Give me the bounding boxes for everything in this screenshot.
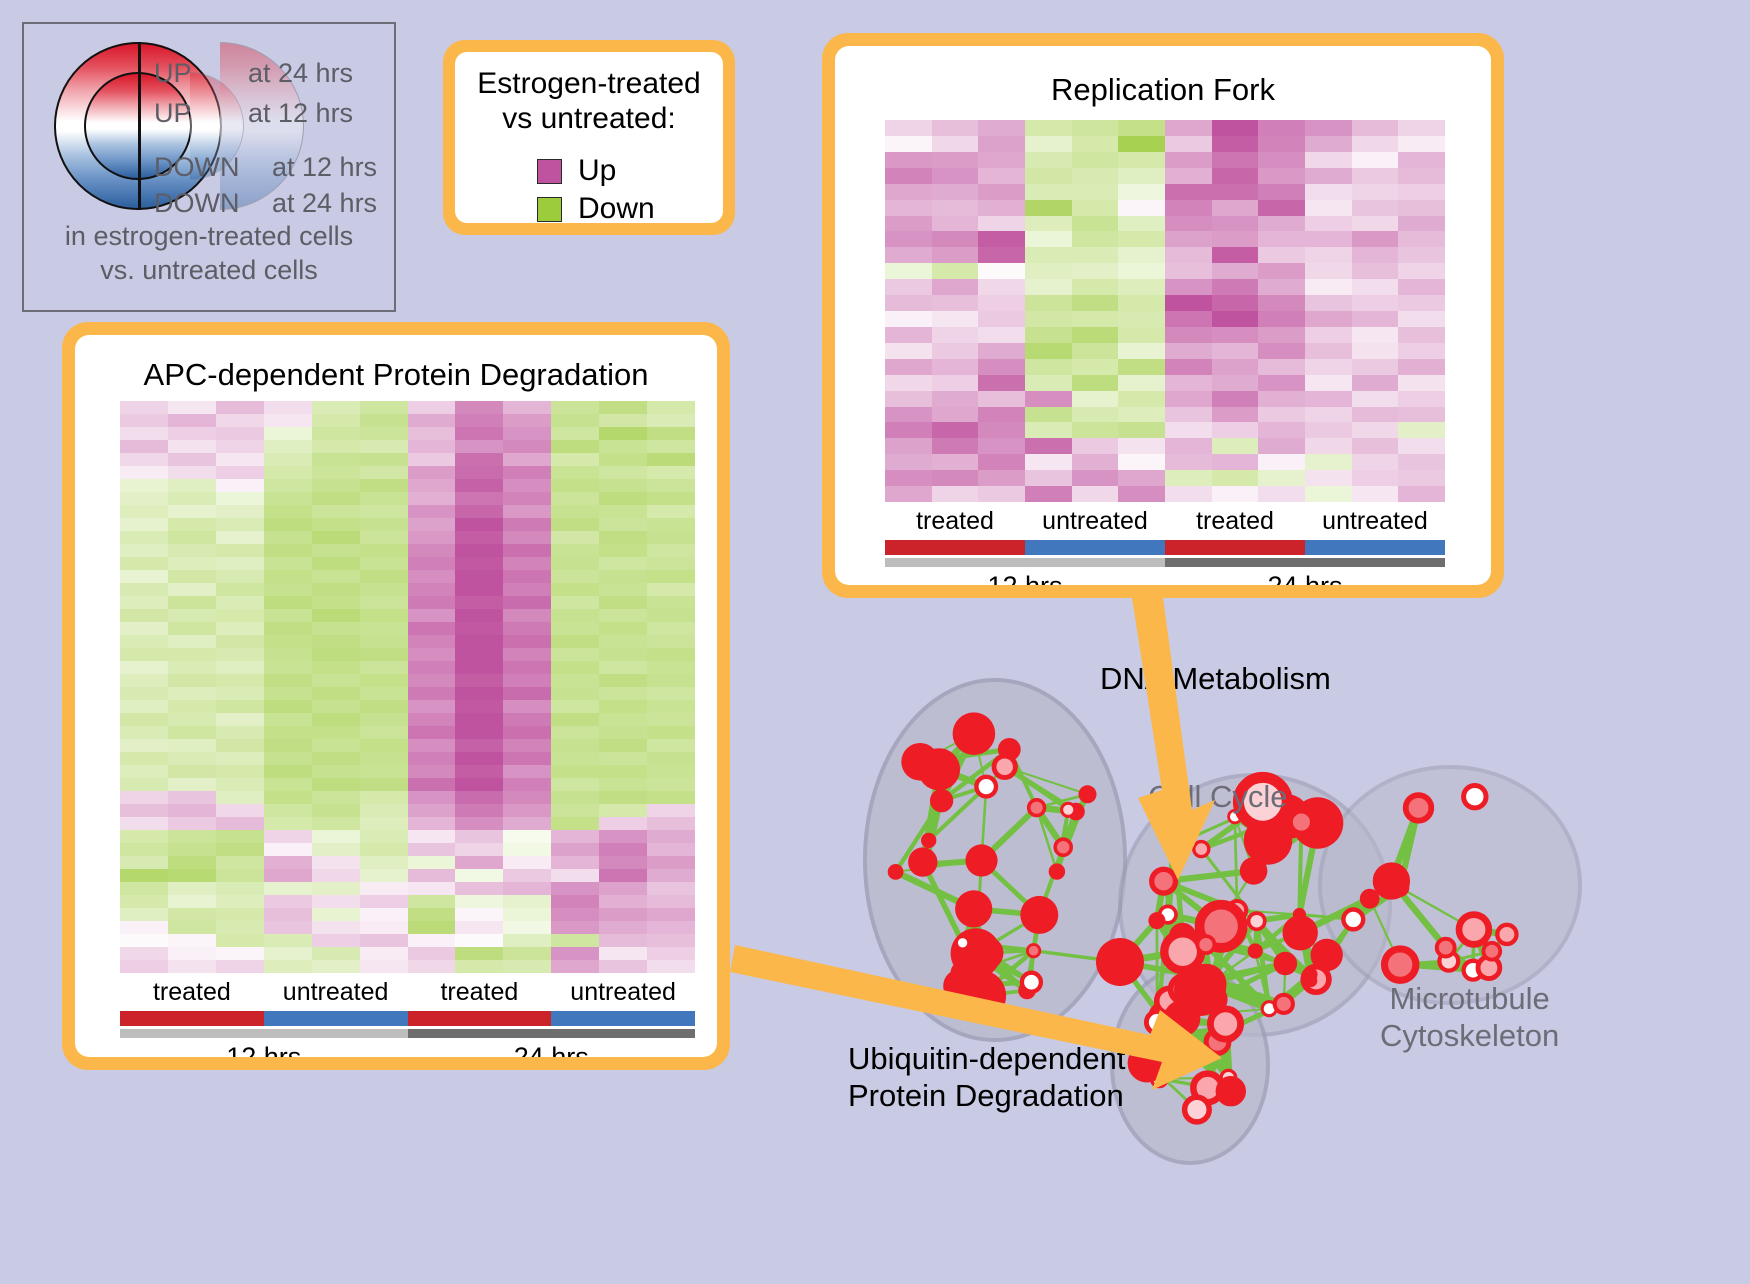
heatmap-cell [1212, 231, 1259, 247]
heatmap-cell [551, 531, 599, 544]
cluster-label-microtubule-cytoskeleton: Microtubule Cytoskeleton [1380, 980, 1559, 1054]
heatmap-cell [647, 414, 695, 427]
heatmap-cell [168, 700, 216, 713]
heatmap-cell [1398, 343, 1445, 359]
heatmap-cell [885, 231, 932, 247]
heatmap-cell [312, 557, 360, 570]
heatmap-cell [647, 739, 695, 752]
heatmap-cell [1305, 279, 1352, 295]
heatmap-cell [168, 531, 216, 544]
heatmap-cell [599, 960, 647, 973]
apc-heatmap [120, 401, 695, 973]
heatmap-cell [551, 687, 599, 700]
heatmap-cell [1398, 375, 1445, 391]
heatmap-cell [1212, 470, 1259, 486]
heatmap-cell [408, 843, 456, 856]
heatmap-cell [455, 518, 503, 531]
time-group-label: 24 hrs [1165, 573, 1445, 585]
heatmap-cell [264, 934, 312, 947]
heatmap-cell [120, 778, 168, 791]
heatmap-cell [120, 674, 168, 687]
heatmap-cell [408, 661, 456, 674]
heatmap-cell [120, 661, 168, 674]
heatmap-cell [932, 231, 979, 247]
heatmap-cell [1352, 311, 1399, 327]
key-row-down: Down [537, 194, 655, 224]
heatmap-cell [599, 804, 647, 817]
heatmap-cell [647, 778, 695, 791]
heatmap-cell [264, 700, 312, 713]
heatmap-cell [408, 427, 456, 440]
heatmap-cell [1072, 120, 1119, 136]
heatmap-cell [408, 622, 456, 635]
heatmap-cell [264, 752, 312, 765]
heatmap-cell [312, 700, 360, 713]
heatmap-cell [503, 635, 551, 648]
heatmap-cell [551, 414, 599, 427]
heatmap-cell [885, 311, 932, 327]
heatmap-cell [978, 422, 1025, 438]
network-svg [790, 610, 1750, 1279]
heatmap-cell [168, 466, 216, 479]
heatmap-cell [264, 635, 312, 648]
heatmap-cell [1258, 168, 1305, 184]
heatmap-cell [455, 895, 503, 908]
heatmap-cell [360, 947, 408, 960]
heatmap-cell [503, 492, 551, 505]
heatmap-cell [312, 635, 360, 648]
heatmap-cell [978, 438, 1025, 454]
heatmap-cell [647, 440, 695, 453]
heatmap-cell [1025, 136, 1072, 152]
heatmap-cell [503, 830, 551, 843]
heatmap-cell [978, 470, 1025, 486]
heatmap-cell [120, 466, 168, 479]
heatmap-cell [503, 908, 551, 921]
heatmap-cell [168, 804, 216, 817]
treatment-bar-segment [264, 1011, 408, 1026]
heatmap-cell [264, 557, 312, 570]
heatmap-cell [1025, 407, 1072, 423]
heatmap-cell [1352, 375, 1399, 391]
network-node [1062, 803, 1075, 816]
heatmap-cell [551, 635, 599, 648]
heatmap-cell [120, 791, 168, 804]
heatmap-cell [120, 648, 168, 661]
heatmap-cell [408, 401, 456, 414]
heatmap-cell [1118, 263, 1165, 279]
heatmap-cell [551, 622, 599, 635]
heatmap-cell [1025, 391, 1072, 407]
heatmap-cell [1352, 136, 1399, 152]
heatmap-cell [978, 263, 1025, 279]
heatmap-cell [216, 661, 264, 674]
heatmap-cell [216, 752, 264, 765]
heatmap-cell [264, 661, 312, 674]
heatmap-cell [408, 466, 456, 479]
heatmap-cell [503, 726, 551, 739]
heatmap-cell [1258, 152, 1305, 168]
heatmap-cell [551, 440, 599, 453]
network-node [1079, 785, 1097, 803]
heatmap-cell [503, 440, 551, 453]
heatmap-cell [1118, 247, 1165, 263]
heatmap-cell [599, 414, 647, 427]
heatmap-cell [264, 479, 312, 492]
heatmap-cell [312, 596, 360, 609]
heatmap-cell [599, 921, 647, 934]
heatmap-cell [264, 791, 312, 804]
heatmap-cell [312, 414, 360, 427]
heatmap-cell [978, 311, 1025, 327]
heatmap-cell [360, 908, 408, 921]
heatmap-cell [360, 479, 408, 492]
wheel-time-up-12: at 12 hrs [248, 100, 353, 127]
heatmap-cell [264, 882, 312, 895]
heatmap-cell [551, 492, 599, 505]
heatmap-cell [647, 518, 695, 531]
heatmap-cell [455, 687, 503, 700]
apc-title: APC-dependent Protein Degradation [75, 357, 717, 393]
heatmap-cell [312, 453, 360, 466]
heatmap-cell [360, 700, 408, 713]
heatmap-cell [455, 791, 503, 804]
heatmap-cell [455, 921, 503, 934]
heatmap-cell [1072, 375, 1119, 391]
heatmap-cell [1398, 184, 1445, 200]
heatmap-cell [1258, 295, 1305, 311]
network-node [1210, 1009, 1240, 1039]
heatmap-cell [551, 947, 599, 960]
heatmap-cell [1118, 422, 1165, 438]
heatmap-cell [360, 804, 408, 817]
heatmap-cell [551, 739, 599, 752]
heatmap-cell [599, 440, 647, 453]
heatmap-cell [1118, 470, 1165, 486]
heatmap-cell [1072, 422, 1119, 438]
heatmap-cell [551, 804, 599, 817]
heatmap-cell [264, 544, 312, 557]
heatmap-cell [264, 609, 312, 622]
heatmap-cell [1118, 136, 1165, 152]
heatmap-cell [551, 583, 599, 596]
caption-line-1: in estrogen-treated cells [24, 220, 394, 254]
column-group-label: treated [120, 980, 264, 1005]
heatmap-cell [408, 895, 456, 908]
wheel-label-up-12: UP [154, 100, 192, 127]
heatmap-cell [168, 401, 216, 414]
heatmap-cell [1165, 359, 1212, 375]
heatmap-cell [264, 687, 312, 700]
network-node [1218, 1079, 1243, 1104]
heatmap-cell [168, 622, 216, 635]
heatmap-cell [1398, 295, 1445, 311]
heatmap-cell [1258, 407, 1305, 423]
heatmap-cell [1118, 216, 1165, 232]
heatmap-cell [455, 570, 503, 583]
heatmap-cell [216, 700, 264, 713]
heatmap-cell [360, 596, 408, 609]
network-node [1283, 915, 1318, 950]
heatmap-cell [647, 544, 695, 557]
heatmap-cell [1025, 470, 1072, 486]
heatmap-cell [1398, 152, 1445, 168]
heatmap-cell [1258, 327, 1305, 343]
heatmap-cell [216, 687, 264, 700]
heatmap-cell [120, 843, 168, 856]
heatmap-cell [599, 505, 647, 518]
heatmap-cell [932, 486, 979, 502]
heatmap-cell [503, 479, 551, 492]
heatmap-cell [455, 713, 503, 726]
network-node [1027, 945, 1039, 957]
heatmap-cell [408, 778, 456, 791]
heatmap-cell [1025, 216, 1072, 232]
heatmap-cell [599, 427, 647, 440]
heatmap-cell [216, 856, 264, 869]
heatmap-cell [216, 947, 264, 960]
heatmap-cell [455, 414, 503, 427]
treatment-bar-segment [551, 1011, 695, 1026]
heatmap-cell [599, 934, 647, 947]
heatmap-cell [551, 830, 599, 843]
heatmap-cell [978, 407, 1025, 423]
heatmap-cell [932, 216, 979, 232]
network-node [994, 756, 1015, 777]
heatmap-cell [1165, 279, 1212, 295]
heatmap-cell [168, 791, 216, 804]
network-node [1406, 795, 1432, 821]
heatmap-cell [599, 726, 647, 739]
heatmap-cell [599, 674, 647, 687]
heatmap-cell [1025, 375, 1072, 391]
heatmap-cell [408, 713, 456, 726]
heatmap-cell [1352, 200, 1399, 216]
heatmap-cell [216, 479, 264, 492]
heatmap-cell [599, 557, 647, 570]
heatmap-cell [1398, 422, 1445, 438]
heatmap-cell [120, 557, 168, 570]
network-node [1249, 913, 1265, 929]
heatmap-cell [1258, 200, 1305, 216]
heatmap-cell [120, 635, 168, 648]
heatmap-cell [408, 414, 456, 427]
heatmap-cell [1305, 470, 1352, 486]
heatmap-cell [551, 778, 599, 791]
colorwheel-legend-box: UP at 24 hrs UP at 12 hrs DOWN at 12 hrs… [22, 22, 396, 312]
heatmap-cell [408, 817, 456, 830]
heatmap-cell [1165, 375, 1212, 391]
heatmap-cell [551, 856, 599, 869]
heatmap-cell [885, 327, 932, 343]
heatmap-cell [1305, 486, 1352, 502]
heatmap-cell [1165, 247, 1212, 263]
heatmap-cell [1398, 216, 1445, 232]
heatmap-cell [360, 843, 408, 856]
heatmap-cell [647, 687, 695, 700]
heatmap-cell [312, 531, 360, 544]
heatmap-cell [647, 674, 695, 687]
heatmap-cell [168, 869, 216, 882]
heatmap-cell [120, 401, 168, 414]
heatmap-cell [360, 609, 408, 622]
heatmap-cell [599, 817, 647, 830]
heatmap-cell [1118, 359, 1165, 375]
heatmap-cell [168, 882, 216, 895]
heatmap-cell [1072, 327, 1119, 343]
heatmap-cell [1258, 279, 1305, 295]
heatmap-cell [1118, 407, 1165, 423]
heatmap-cell [551, 479, 599, 492]
heatmap-cell [264, 908, 312, 921]
heatmap-cell [216, 934, 264, 947]
heatmap-cell [1398, 279, 1445, 295]
heatmap-cell [551, 453, 599, 466]
heatmap-cell [599, 596, 647, 609]
heatmap-cell [408, 908, 456, 921]
heatmap-cell [551, 596, 599, 609]
heatmap-cell [599, 518, 647, 531]
heatmap-cell [168, 778, 216, 791]
heatmap-cell [1305, 168, 1352, 184]
heatmap-cell [599, 947, 647, 960]
heatmap-cell [647, 856, 695, 869]
heatmap-cell [1072, 168, 1119, 184]
heatmap-cell [551, 505, 599, 518]
heatmap-cell [599, 622, 647, 635]
network-node [1131, 1047, 1163, 1079]
heatmap-cell [503, 739, 551, 752]
heatmap-cell [312, 544, 360, 557]
heatmap-cell [120, 700, 168, 713]
heatmap-cell [1398, 327, 1445, 343]
cluster-label-dna-metabolism: DNA Metabolism [1100, 660, 1331, 697]
heatmap-cell [1352, 343, 1399, 359]
heatmap-cell [120, 804, 168, 817]
heatmap-cell [1025, 247, 1072, 263]
heatmap-cell [1305, 359, 1352, 375]
heatmap-cell [455, 765, 503, 778]
heatmap-cell [1212, 486, 1259, 502]
heatmap-cell [408, 921, 456, 934]
heatmap-cell [503, 596, 551, 609]
heatmap-cell [312, 609, 360, 622]
heatmap-cell [647, 427, 695, 440]
heatmap-cell [312, 960, 360, 973]
heatmap-cell [216, 557, 264, 570]
heatmap-cell [455, 856, 503, 869]
heatmap-cell [120, 492, 168, 505]
network-node [976, 777, 996, 797]
network-node [1055, 839, 1071, 855]
heatmap-cell [1212, 136, 1259, 152]
heatmap-cell [408, 596, 456, 609]
heatmap-cell [503, 622, 551, 635]
heatmap-cell [120, 570, 168, 583]
heatmap-cell [503, 609, 551, 622]
replication-fork-time-labels: 12 hrs24 hrs [885, 573, 1445, 585]
heatmap-cell [168, 674, 216, 687]
heatmap-cell [120, 947, 168, 960]
heatmap-cell [312, 440, 360, 453]
heatmap-cell [1212, 295, 1259, 311]
heatmap-cell [216, 440, 264, 453]
heatmap-cell [264, 596, 312, 609]
heatmap-cell [264, 739, 312, 752]
colorwheel-graphic: UP at 24 hrs UP at 12 hrs DOWN at 12 hrs… [50, 38, 360, 218]
heatmap-cell [408, 687, 456, 700]
heatmap-cell [1258, 216, 1305, 232]
heatmap-cell [1165, 120, 1212, 136]
heatmap-cell [312, 661, 360, 674]
heatmap-cell [1025, 327, 1072, 343]
heatmap-cell [408, 752, 456, 765]
heatmap-cell [360, 427, 408, 440]
heatmap-cell [1072, 343, 1119, 359]
wheel-divider [138, 42, 141, 210]
heatmap-cell [551, 466, 599, 479]
heatmap-cell [360, 713, 408, 726]
heatmap-cell [408, 726, 456, 739]
heatmap-cell [168, 453, 216, 466]
heatmap-cell [216, 596, 264, 609]
heatmap-cell [1212, 120, 1259, 136]
heatmap-cell [408, 765, 456, 778]
heatmap-cell [932, 247, 979, 263]
heatmap-cell [599, 570, 647, 583]
heatmap-cell [647, 869, 695, 882]
heatmap-cell [932, 120, 979, 136]
heatmap-cell [932, 279, 979, 295]
network-node [1185, 1097, 1210, 1122]
heatmap-cell [551, 570, 599, 583]
heatmap-cell [408, 440, 456, 453]
heatmap-cell [932, 184, 979, 200]
heatmap-cell [360, 921, 408, 934]
heatmap-cell [1398, 136, 1445, 152]
time-bar-segment [120, 1029, 408, 1038]
heatmap-cell [1258, 359, 1305, 375]
heatmap-cell [1398, 247, 1445, 263]
heatmap-cell [503, 648, 551, 661]
heatmap-cell [408, 791, 456, 804]
heatmap-cell [408, 505, 456, 518]
heatmap-cell [1305, 152, 1352, 168]
heatmap-cell [647, 661, 695, 674]
heatmap-cell [1165, 200, 1212, 216]
heatmap-cell [1118, 200, 1165, 216]
heatmap-cell [1352, 486, 1399, 502]
heatmap-cell [503, 700, 551, 713]
heatmap-cell [1398, 120, 1445, 136]
heatmap-cell [120, 414, 168, 427]
heatmap-cell [168, 687, 216, 700]
heatmap-cell [408, 869, 456, 882]
network-node [1392, 880, 1407, 895]
heatmap-cell [647, 609, 695, 622]
heatmap-cell [647, 934, 695, 947]
heatmap-cell [360, 622, 408, 635]
heatmap-cell [360, 687, 408, 700]
heatmap-cell [599, 843, 647, 856]
heatmap-cell [551, 921, 599, 934]
heatmap-cell [360, 518, 408, 531]
network-node [1311, 939, 1343, 971]
heatmap-cell [264, 453, 312, 466]
heatmap-cell [216, 713, 264, 726]
heatmap-cell [1072, 407, 1119, 423]
heatmap-cell [312, 570, 360, 583]
